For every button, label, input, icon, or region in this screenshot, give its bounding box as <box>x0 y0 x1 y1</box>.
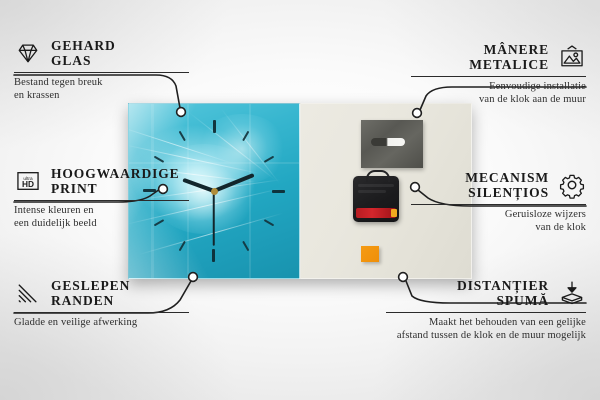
clock-hand-second <box>213 191 215 246</box>
hanger-slot <box>371 138 405 146</box>
feature-rule <box>14 72 189 73</box>
feature-header: ultra HD HOOGWAARDIGE PRINT <box>14 166 189 196</box>
feature-hoogwaardige-print: ultra HD HOOGWAARDIGE PRINT Intense kleu… <box>14 166 189 230</box>
foam-spacer-arrow-icon <box>558 279 586 307</box>
feature-header: GEHARD GLAS <box>14 38 189 68</box>
feature-desc: Geruisloze wijzers van de klok <box>411 208 586 234</box>
clock-center-hub <box>211 188 218 195</box>
infographic-canvas: GEHARD GLAS Bestand tegen breuk en krass… <box>0 0 600 400</box>
metal-hanger-plate <box>361 120 423 168</box>
gear-icon <box>558 171 586 199</box>
feature-title: DISTANȚIER SPUMĂ <box>457 278 549 308</box>
movement-ridge <box>358 184 394 187</box>
svg-text:HD: HD <box>22 179 34 189</box>
diamond-icon <box>14 39 42 67</box>
feature-rule <box>411 76 586 77</box>
feature-rule <box>411 204 586 205</box>
feature-geslepen-randen: GESLEPEN RANDEN Gladde en veilige afwerk… <box>14 278 189 329</box>
feature-header: MECANISM SILENȚIOS <box>411 170 586 200</box>
feature-desc: Gladde en veilige afwerking <box>14 316 189 329</box>
feature-header: DISTANȚIER SPUMĂ <box>386 278 586 308</box>
foam-spacer <box>361 246 379 262</box>
feature-title: MÂNERE METALICE <box>469 42 549 72</box>
feature-title: HOOGWAARDIGE PRINT <box>51 166 180 196</box>
feature-rule <box>14 312 189 313</box>
feature-title: MECANISM SILENȚIOS <box>465 170 549 200</box>
movement-ridge <box>358 190 386 193</box>
feature-mecanism-silentios: MECANISM SILENȚIOS Geruisloze wijzers va… <box>411 170 586 234</box>
silent-quartz-movement <box>353 176 399 222</box>
feature-manere-metalice: MÂNERE METALICE Eenvoudige installatie v… <box>411 42 586 106</box>
feather-glow <box>197 114 287 184</box>
battery-positive-cap <box>391 209 397 217</box>
feature-desc: Eenvoudige installatie van de klok aan d… <box>411 80 586 106</box>
feature-desc: Maakt het behouden van een gelijke afsta… <box>386 316 586 342</box>
feature-gehard-glas: GEHARD GLAS Bestand tegen breuk en krass… <box>14 38 189 102</box>
feature-header: GESLEPEN RANDEN <box>14 278 189 308</box>
framed-picture-hanger-icon <box>558 43 586 71</box>
feature-rule <box>14 200 189 201</box>
feature-rule <box>386 312 586 313</box>
feature-title: GESLEPEN RANDEN <box>51 278 130 308</box>
feature-desc: Bestand tegen breuk en krassen <box>14 76 189 102</box>
beveled-edges-icon <box>14 279 42 307</box>
feature-header: MÂNERE METALICE <box>411 42 586 72</box>
movement-hanging-loop <box>366 170 390 182</box>
ultra-hd-icon: ultra HD <box>14 167 42 195</box>
aa-battery <box>356 208 396 218</box>
feature-title: GEHARD GLAS <box>51 38 116 68</box>
feature-desc: Intense kleuren en een duidelijk beeld <box>14 204 189 230</box>
feature-distantier-spuma: DISTANȚIER SPUMĂ Maakt het behouden van … <box>386 278 586 342</box>
